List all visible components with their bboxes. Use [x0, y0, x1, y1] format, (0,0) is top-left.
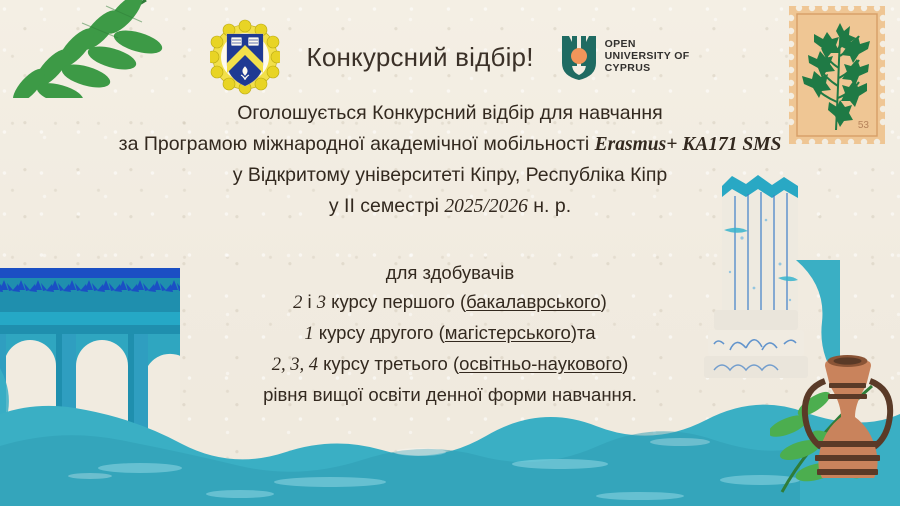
text-run: ) — [601, 291, 607, 312]
text-line: Оголошується Конкурсний відбір для навча… — [0, 98, 900, 129]
chernivtsi-university-emblem — [210, 19, 280, 95]
text-run: за Програмою міжнародної академічної моб… — [119, 133, 595, 155]
text-line: рівня вищої освіти денної форми навчання… — [0, 380, 900, 409]
text-run: курсу другого ( — [314, 322, 445, 343]
text-run: ) — [622, 353, 628, 374]
text-line: для здобувачів — [0, 258, 900, 287]
emphasis-number: 1 — [304, 324, 313, 344]
open-university-cyprus-logo: OPEN UNIVERSITY OF CYPRUS — [560, 34, 690, 80]
announcement-paragraph-eligibility: для здобувачів2 і 3 курсу першого (бакал… — [0, 258, 900, 409]
underlined-term: бакалаврського — [466, 291, 601, 312]
underlined-term: освітньо-наукового — [459, 353, 622, 374]
text-run: н. р. — [528, 195, 571, 217]
announcement-paragraph-main: Оголошується Конкурсний відбір для навча… — [0, 98, 900, 222]
emphasis-number: 2 — [293, 293, 302, 313]
announcement-slide: 53 — [0, 0, 900, 506]
text-run: курсу третього ( — [318, 353, 459, 374]
text-line: 2, 3, 4 курсу третього (освітньо-науково… — [0, 349, 900, 380]
text-run: рівня вищої освіти денної форми навчання… — [263, 384, 637, 405]
text-run: у II семестрі — [329, 195, 445, 217]
slide-header: Конкурсний відбір! OPEN UNIVERSITY OF CY… — [0, 18, 900, 96]
text-line: у Відкритому університеті Кіпру, Республ… — [0, 160, 900, 191]
text-run: курсу першого ( — [326, 291, 466, 312]
text-line: 1 курсу другого (магістерського)та — [0, 318, 900, 349]
underlined-term: магістерського — [445, 322, 571, 343]
text-run: )та — [571, 322, 596, 343]
text-line: у II семестрі 2025/2026 н. р. — [0, 191, 900, 222]
text-run: у Відкритому університеті Кіпру, Республ… — [233, 164, 668, 186]
emphasis-program-name: Erasmus+ KA171 SMS — [595, 134, 782, 155]
emphasis-number: 3 — [317, 293, 326, 313]
page-title: Конкурсний відбір! — [306, 42, 533, 73]
text-run: для здобувачів — [386, 262, 514, 283]
emphasis-number: 2, 3, 4 — [272, 355, 318, 375]
text-line: за Програмою міжнародної академічної моб… — [0, 129, 900, 160]
open-university-cyprus-mark — [560, 34, 598, 80]
oucy-line-3: CYPRUS — [605, 63, 690, 75]
text-run: і — [302, 291, 316, 312]
text-line: 2 і 3 курсу першого (бакалаврського) — [0, 287, 900, 318]
emphasis-number: 2025/2026 — [444, 196, 527, 217]
text-run: Оголошується Конкурсний відбір для навча… — [237, 102, 662, 124]
